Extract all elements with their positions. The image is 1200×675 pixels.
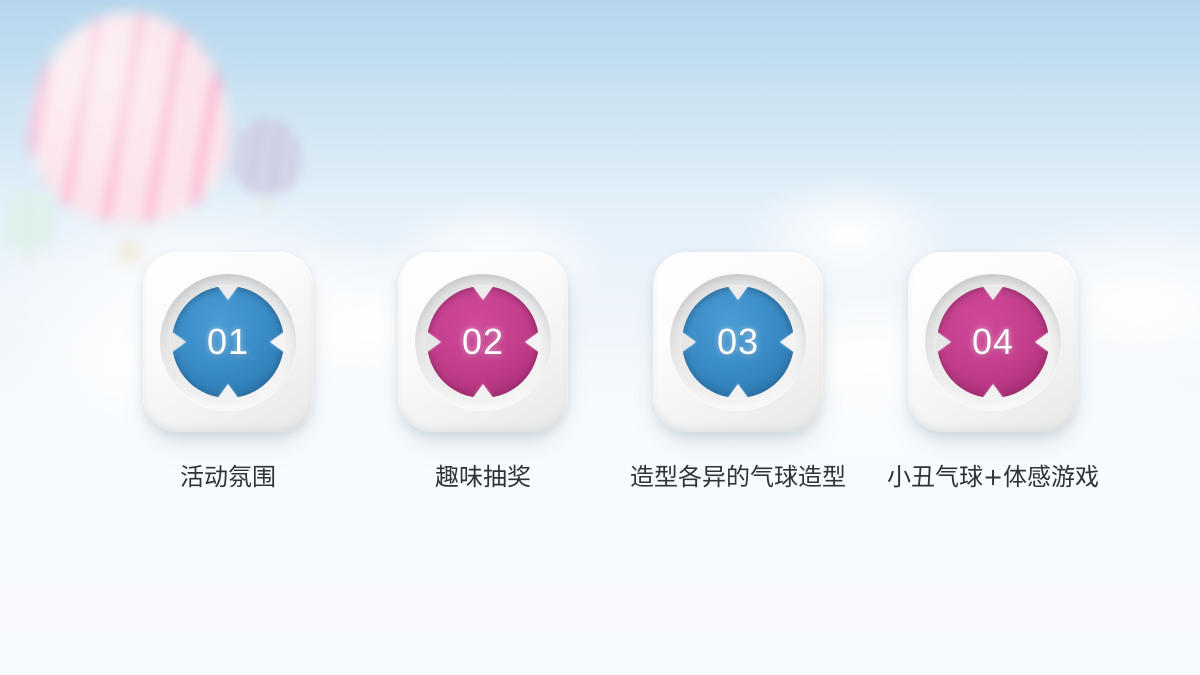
step-caption: 活动氛围 bbox=[180, 465, 276, 489]
hot-air-balloon-purple-small-icon bbox=[232, 118, 302, 210]
notch-bottom-icon bbox=[727, 384, 749, 399]
notch-top-icon bbox=[217, 285, 239, 300]
list-item[interactable]: 03 造型各异的气球造型 bbox=[653, 252, 823, 489]
notch-left-icon bbox=[171, 331, 186, 353]
notch-bottom-icon bbox=[217, 384, 239, 399]
step-number: 01 bbox=[207, 321, 249, 363]
step-tile-03[interactable]: 03 bbox=[653, 252, 823, 432]
step-caption: 造型各异的气球造型 bbox=[630, 465, 846, 489]
balloon-envelope bbox=[30, 12, 230, 222]
notch-right-icon bbox=[780, 331, 795, 353]
step-tile-04[interactable]: 04 bbox=[908, 252, 1078, 432]
list-item[interactable]: 01 活动氛围 bbox=[143, 252, 313, 489]
list-item[interactable]: 04 小丑气球+体感游戏 bbox=[908, 252, 1078, 489]
step-tile-02[interactable]: 02 bbox=[398, 252, 568, 432]
notch-left-icon bbox=[681, 331, 696, 353]
step-disc-03: 03 bbox=[682, 286, 794, 398]
hot-air-balloon-pink-large-icon bbox=[30, 12, 230, 262]
notch-top-icon bbox=[982, 285, 1004, 300]
notch-top-icon bbox=[727, 285, 749, 300]
notch-bottom-icon bbox=[472, 384, 494, 399]
slide-canvas: 01 活动氛围 02 趣味抽奖 bbox=[0, 0, 1200, 675]
step-caption: 小丑气球+体感游戏 bbox=[887, 465, 1099, 489]
notch-left-icon bbox=[426, 331, 441, 353]
balloon-envelope bbox=[2, 190, 58, 252]
step-tile-01[interactable]: 01 bbox=[143, 252, 313, 432]
notch-right-icon bbox=[270, 331, 285, 353]
notch-bottom-icon bbox=[982, 384, 1004, 399]
step-list: 01 活动氛围 02 趣味抽奖 bbox=[0, 252, 1200, 489]
notch-left-icon bbox=[936, 331, 951, 353]
balloon-rope bbox=[130, 222, 131, 244]
balloon-basket bbox=[262, 201, 272, 210]
step-number: 03 bbox=[717, 321, 759, 363]
step-number: 02 bbox=[462, 321, 504, 363]
notch-top-icon bbox=[472, 285, 494, 300]
step-disc-02: 02 bbox=[427, 286, 539, 398]
notch-right-icon bbox=[525, 331, 540, 353]
list-item[interactable]: 02 趣味抽奖 bbox=[398, 252, 568, 489]
step-caption: 趣味抽奖 bbox=[435, 465, 531, 489]
step-disc-04: 04 bbox=[937, 286, 1049, 398]
balloon-envelope bbox=[232, 118, 302, 195]
step-disc-01: 01 bbox=[172, 286, 284, 398]
step-number: 04 bbox=[972, 321, 1014, 363]
notch-right-icon bbox=[1035, 331, 1050, 353]
